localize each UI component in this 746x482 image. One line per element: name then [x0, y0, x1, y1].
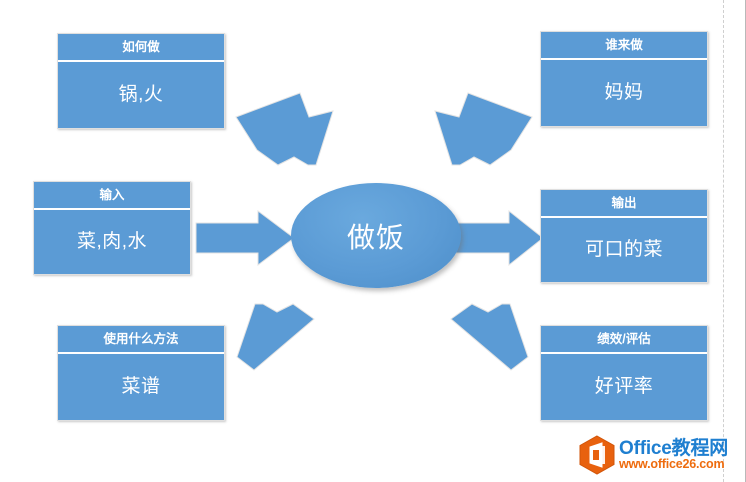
- arrow-method-to-center[interactable]: [237, 292, 345, 374]
- arrow-up-left-icon: [451, 304, 528, 370]
- node-kpi-body: 好评率: [541, 354, 707, 420]
- arrow-right-icon: [196, 211, 294, 265]
- arrow-who-to-center[interactable]: [428, 93, 536, 173]
- node-output-body: 可口的菜: [541, 218, 707, 282]
- node-who-header: 谁来做: [541, 32, 707, 60]
- node-how-body: 锅,火: [58, 62, 224, 128]
- arrow-down-left-icon: [435, 93, 532, 165]
- center-process-ellipse[interactable]: 做饭: [291, 183, 461, 288]
- node-how-header: 如何做: [58, 34, 224, 62]
- node-who[interactable]: 谁来做 妈妈: [540, 31, 708, 127]
- arrow-up-right-icon: [237, 304, 314, 370]
- node-input[interactable]: 输入 菜,肉,水: [33, 181, 191, 275]
- office-hexagon-logo-icon: [578, 435, 616, 475]
- watermark-title: Office教程网: [619, 439, 728, 458]
- arrow-kpi-to-center[interactable]: [428, 292, 536, 374]
- arrow-input-to-center[interactable]: [196, 211, 296, 265]
- watermark: Office教程网 www.office26.com: [578, 432, 740, 478]
- arrow-how-to-center[interactable]: [232, 93, 340, 173]
- node-method-body: 菜谱: [58, 354, 224, 420]
- node-who-body: 妈妈: [541, 60, 707, 126]
- watermark-url: www.office26.com: [619, 458, 728, 471]
- arrow-center-to-output[interactable]: [453, 211, 545, 265]
- diagram-canvas: 如何做 锅,火 谁来做 妈妈 输入 菜,肉,水 输出 可口的菜 使用什么方法 菜…: [0, 0, 746, 482]
- watermark-text: Office教程网 www.office26.com: [619, 439, 728, 471]
- node-kpi-header: 绩效/评估: [541, 326, 707, 354]
- node-method-header: 使用什么方法: [58, 326, 224, 354]
- node-how[interactable]: 如何做 锅,火: [57, 33, 225, 129]
- node-output-header: 输出: [541, 190, 707, 218]
- page-guide-line: [723, 0, 724, 482]
- node-output[interactable]: 输出 可口的菜: [540, 189, 708, 283]
- arrow-down-right-icon: [236, 93, 333, 165]
- node-kpi[interactable]: 绩效/评估 好评率: [540, 325, 708, 421]
- node-method[interactable]: 使用什么方法 菜谱: [57, 325, 225, 421]
- node-input-header: 输入: [34, 182, 190, 210]
- arrow-right-icon: [453, 211, 543, 265]
- center-process-label: 做饭: [347, 216, 405, 256]
- node-input-body: 菜,肉,水: [34, 210, 190, 274]
